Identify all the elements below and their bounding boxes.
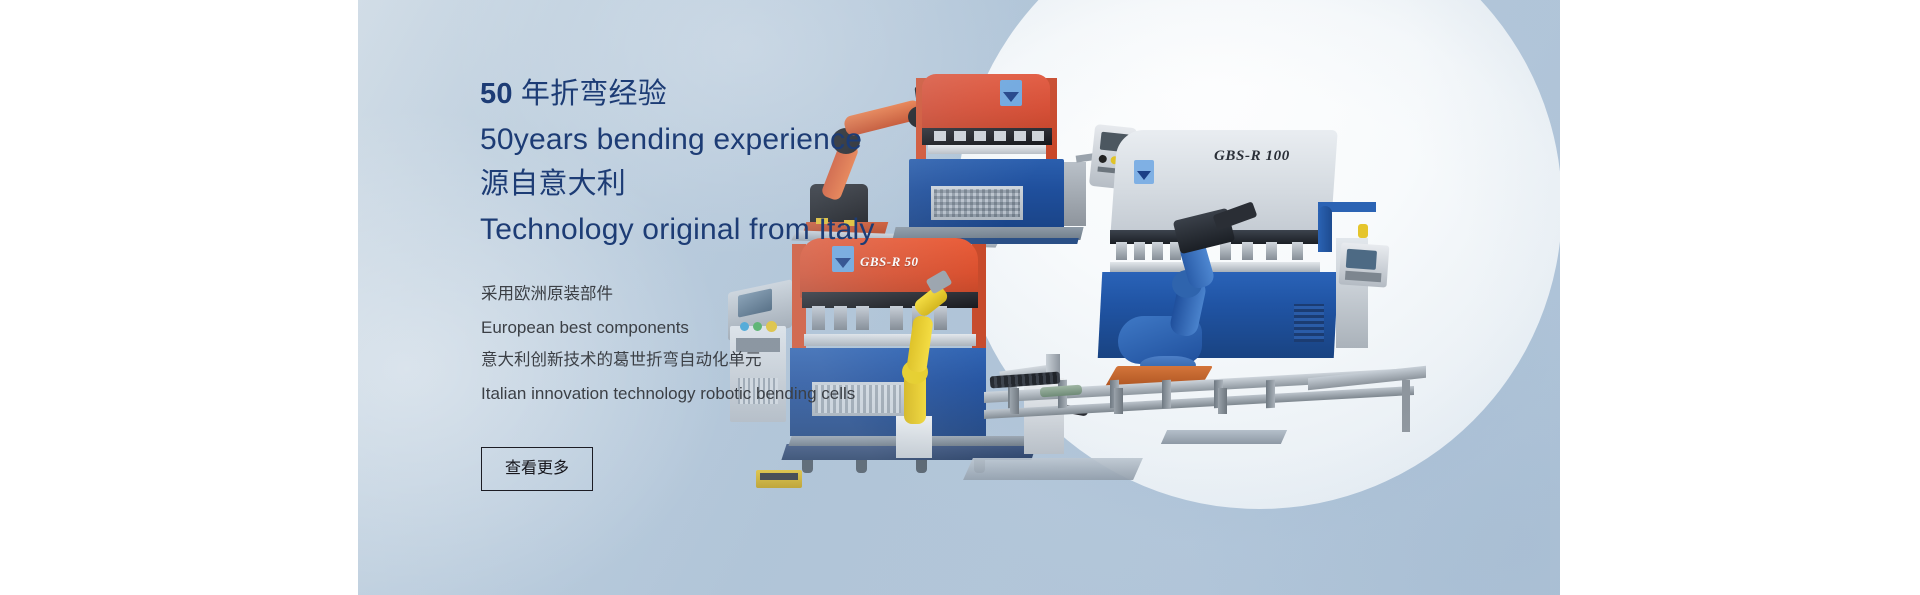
hmi-screen bbox=[1346, 249, 1377, 270]
headline-line-1: 50 年折弯经验 bbox=[480, 72, 875, 117]
subtext-line-2: European best components bbox=[481, 311, 855, 344]
headline-block: 50 年折弯经验 50years bending experience 源自意大… bbox=[480, 72, 875, 252]
headline-line-3: 源自意大利 bbox=[480, 162, 875, 207]
subtext-line-1: 采用欧洲原装部件 bbox=[481, 278, 855, 311]
headline-line-4: Technology original from Italy bbox=[480, 207, 875, 252]
headline-line-1-rest: 年折弯经验 bbox=[513, 78, 667, 110]
service-arm-post bbox=[1318, 206, 1332, 252]
machine-model-label: GBS-R 100 bbox=[1214, 148, 1290, 165]
subtext-line-3: 意大利创新技术的葛世折弯自动化单元 bbox=[481, 344, 855, 377]
subtext-block: 采用欧洲原装部件 European best components 意大利创新技… bbox=[481, 278, 855, 410]
hmi-keypad bbox=[1345, 271, 1382, 282]
headline-line-2: 50years bending experience bbox=[480, 117, 875, 162]
rail-tie bbox=[1266, 380, 1275, 409]
press-vent-panel bbox=[1294, 304, 1324, 342]
rail-tie bbox=[1162, 380, 1171, 409]
transfer-table-leg bbox=[1402, 380, 1410, 432]
banner-copy: 50 年折弯经验 50years bending experience 源自意大… bbox=[480, 0, 1040, 595]
headline-years-number: 50 bbox=[480, 78, 513, 110]
view-more-button[interactable]: 查看更多 bbox=[481, 447, 593, 491]
subtext-line-4: Italian innovation technology robotic be… bbox=[481, 377, 855, 410]
rail-leg bbox=[1218, 388, 1227, 414]
machine-gbs-r-100-cell: GBS-R 100 bbox=[1018, 130, 1458, 410]
hmi-panel bbox=[1339, 242, 1390, 287]
hero-banner: GBS-R 50 bbox=[358, 0, 1560, 595]
press-bed bbox=[1110, 262, 1320, 272]
status-lamp bbox=[1358, 224, 1368, 238]
foreground-sheet-2 bbox=[1161, 430, 1287, 444]
lag-logo-badge-icon bbox=[1134, 160, 1154, 184]
rail-leg bbox=[1114, 388, 1123, 414]
